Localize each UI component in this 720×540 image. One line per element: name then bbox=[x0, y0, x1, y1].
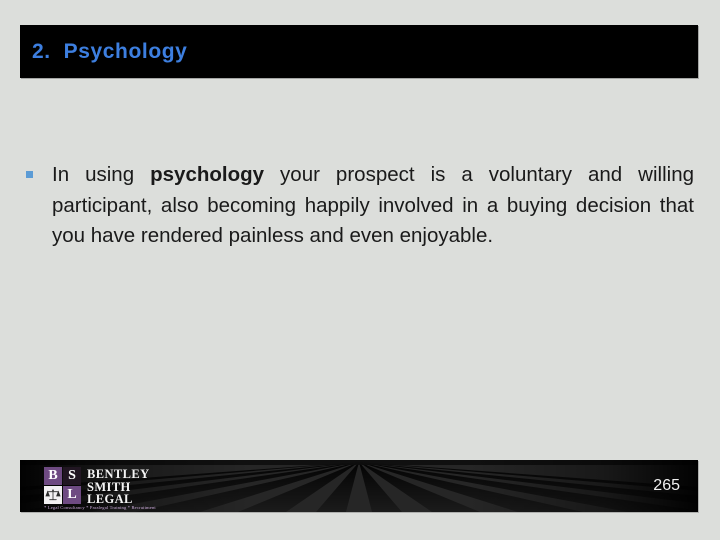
title-bar: 2. Psychology bbox=[20, 25, 698, 78]
logo-word-legal: LEGAL bbox=[87, 493, 150, 506]
logo-letter-b: B bbox=[44, 467, 62, 485]
logo-wordmark: BENTLEY SMITH LEGAL bbox=[87, 467, 150, 506]
page-title: 2. Psychology bbox=[32, 40, 187, 64]
logo-monogram-grid: B S L bbox=[44, 467, 81, 504]
page-number: 265 bbox=[653, 477, 680, 495]
scales-of-justice-icon bbox=[44, 486, 62, 504]
content-bullet-list: In using psychology your prospect is a v… bbox=[26, 160, 694, 252]
company-logo: B S L BE bbox=[44, 467, 150, 506]
bullet-paragraph: In using psychology your prospect is a v… bbox=[52, 160, 694, 252]
footer-bar: B S L BE bbox=[20, 460, 698, 512]
square-bullet-icon bbox=[26, 171, 33, 178]
logo-word-bentley: BENTLEY bbox=[87, 468, 150, 481]
logo-letter-l: L bbox=[63, 486, 81, 504]
logo-tagline: * Legal Consultancy * Paralegal Training… bbox=[44, 505, 156, 511]
bullet-text-before-bold: In using bbox=[52, 163, 150, 186]
bullet-text-bold-word: psychology bbox=[150, 163, 264, 186]
slide-canvas: 2. Psychology In using psychology your p… bbox=[0, 0, 720, 540]
logo-letter-s: S bbox=[63, 467, 81, 485]
